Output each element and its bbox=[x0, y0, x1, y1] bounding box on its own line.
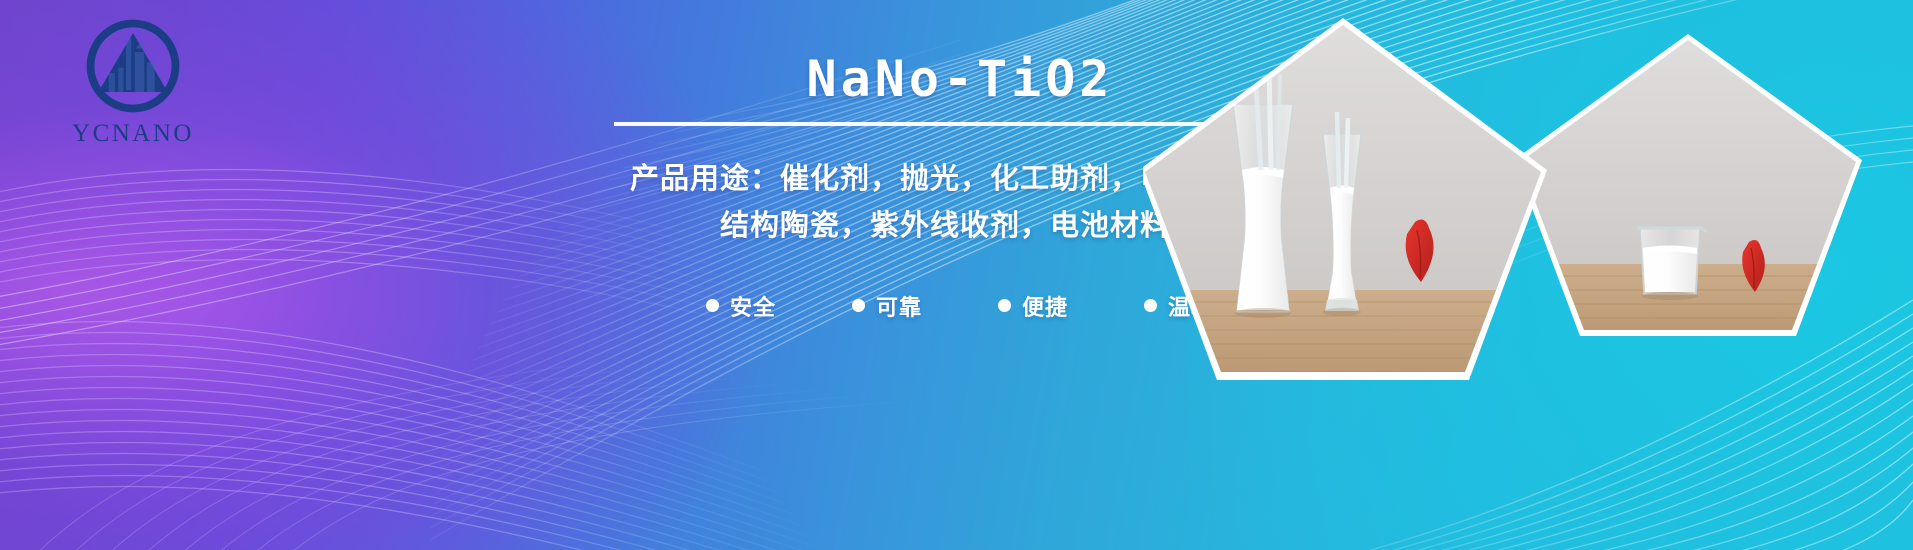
feature-label: 便捷 bbox=[1022, 290, 1068, 322]
bullet-dot-icon bbox=[998, 299, 1011, 312]
feature-item-convenient: 便捷 bbox=[998, 290, 1068, 322]
brand-logo: YCNANO bbox=[38, 14, 228, 164]
brand-name: YCNANO bbox=[72, 120, 194, 148]
feature-label: 安全 bbox=[730, 290, 776, 322]
feature-label: 可靠 bbox=[876, 290, 922, 322]
product-photo-beaker bbox=[1514, 34, 1864, 344]
product-photo-group bbox=[1143, 0, 1913, 550]
feature-item-safe: 安全 bbox=[706, 290, 776, 322]
ycnano-mountain-circle-logo-icon bbox=[81, 14, 185, 118]
product-banner: YCNANO NaNo-TiO2 产品用途：催化剂，抛光，化工助剂，电子陶瓷， … bbox=[0, 0, 1913, 550]
bullet-dot-icon bbox=[706, 299, 719, 312]
feature-item-reliable: 可靠 bbox=[852, 290, 922, 322]
bullet-dot-icon bbox=[852, 299, 865, 312]
product-photo-vases bbox=[1143, 18, 1549, 385]
